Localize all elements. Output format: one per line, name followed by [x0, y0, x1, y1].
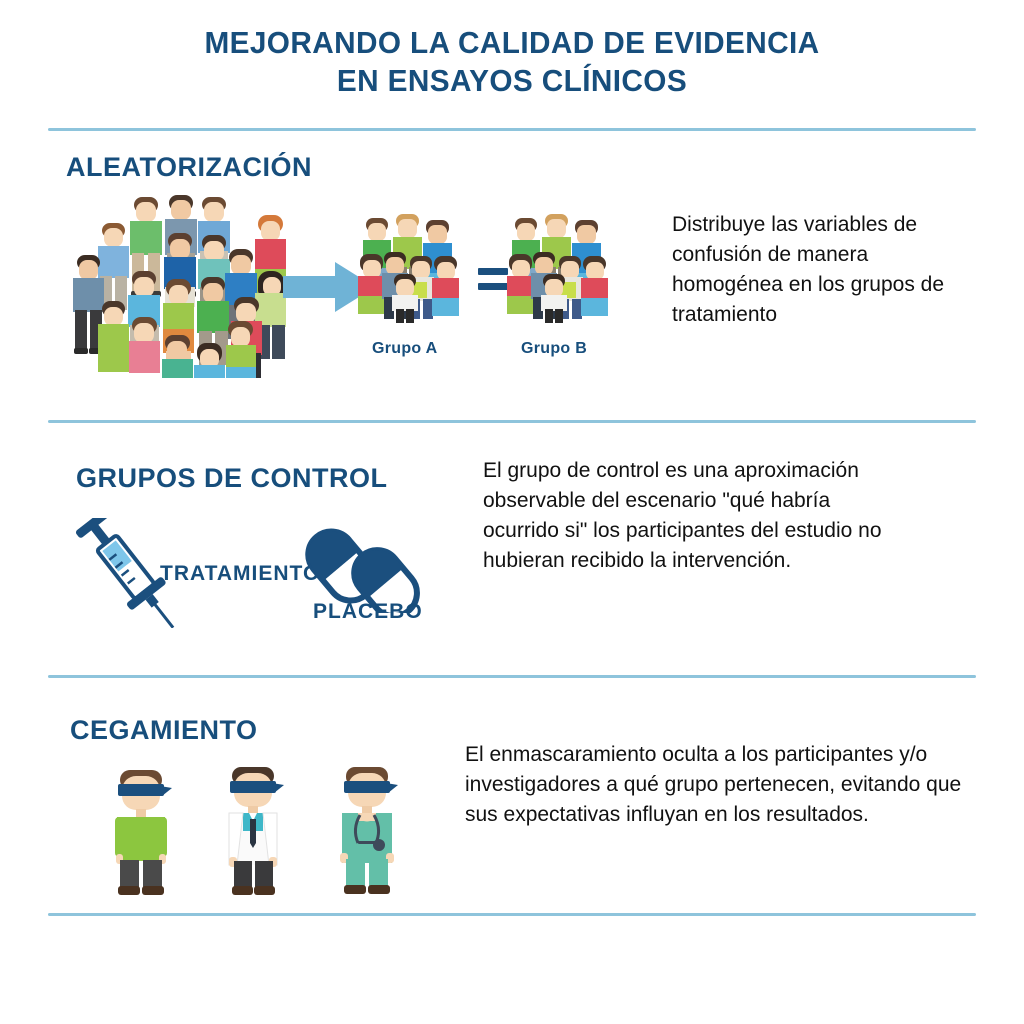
- divider-bottom: [48, 913, 976, 916]
- group-b-illustration: [507, 212, 617, 324]
- section-body-grupos-de-control: El grupo de control es una aproximación …: [483, 456, 883, 576]
- group-a-illustration: [358, 212, 468, 324]
- section-heading-aleatorizacion: ALEATORIZACIÓN: [66, 152, 312, 183]
- divider-1: [48, 420, 976, 423]
- treatment-label: TRATAMIENTO: [160, 562, 320, 586]
- capsule-pills-icon: [305, 518, 425, 613]
- divider-2: [48, 675, 976, 678]
- page-title: MEJORANDO LA CALIDAD DE EVIDENCIA EN ENS…: [20, 24, 1003, 100]
- section-body-aleatorizacion: Distribuye las variables de confusión de…: [672, 210, 972, 330]
- blindfolded-nurse-icon: [322, 765, 412, 896]
- infographic-page: MEJORANDO LA CALIDAD DE EVIDENCIA EN ENS…: [0, 0, 1024, 1024]
- divider-top: [48, 128, 976, 131]
- equals-sign: [478, 268, 508, 290]
- group-a-label: Grupo A: [372, 340, 438, 358]
- blindfolded-doctor-icon: [207, 765, 299, 896]
- group-b-label: Grupo B: [521, 340, 587, 358]
- section-body-cegamiento: El enmascaramiento oculta a los particip…: [465, 740, 965, 830]
- blindfolded-patient-icon: [96, 768, 186, 896]
- section-heading-cegamiento: CEGAMIENTO: [70, 715, 258, 746]
- title-line-2: EN ENSAYOS CLÍNICOS: [20, 62, 1003, 100]
- section-heading-grupos-de-control: GRUPOS DE CONTROL: [76, 463, 388, 494]
- title-line-1: MEJORANDO LA CALIDAD DE EVIDENCIA: [204, 25, 819, 60]
- placebo-label: PLACEBO: [313, 600, 423, 624]
